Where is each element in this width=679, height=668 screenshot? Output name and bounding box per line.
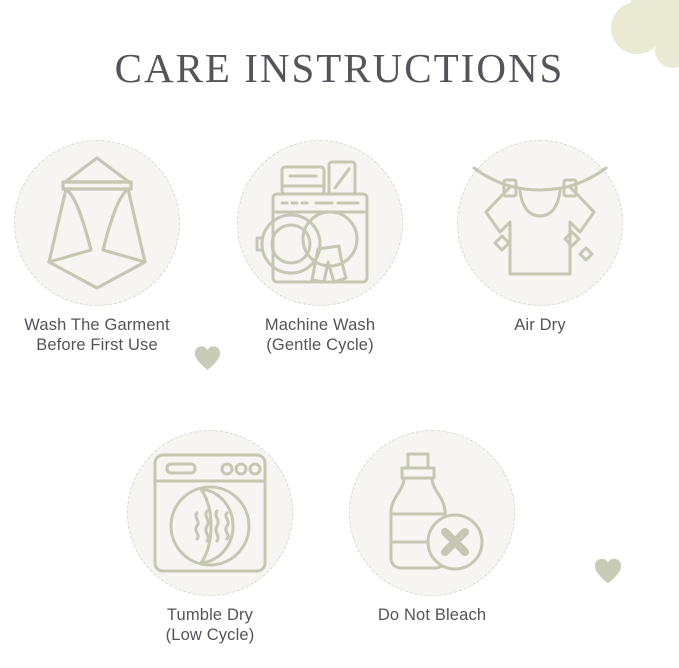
care-item-wash-before-first-use: Wash The Garment Before First Use: [0, 140, 197, 355]
care-item-do-not-bleach: Do Not Bleach: [332, 430, 532, 625]
folded-garment-icon: [37, 152, 157, 294]
washing-machine-icon: [254, 158, 386, 288]
care-instructions-card: CARE INSTRUCTIONS Wash The Garment Befor…: [0, 0, 679, 668]
care-item-label: Tumble Dry (Low Cycle): [110, 605, 310, 645]
icon-circle-3: [457, 140, 623, 306]
care-item-air-dry: Air Dry: [440, 140, 640, 335]
icon-circle-1: [14, 140, 180, 306]
care-item-tumble-dry: Tumble Dry (Low Cycle): [110, 430, 310, 645]
icon-circle-2: [237, 140, 403, 306]
care-item-label: Machine Wash (Gentle Cycle): [220, 315, 420, 355]
heart-decoration-right: [594, 557, 622, 585]
clothesline-tshirt-icon: [472, 160, 608, 286]
care-item-machine-wash: Machine Wash (Gentle Cycle): [220, 140, 420, 355]
no-bleach-bottle-icon: [375, 450, 489, 576]
care-item-label: Do Not Bleach: [332, 605, 532, 625]
heart-decoration-left: [194, 345, 221, 371]
page-title: CARE INSTRUCTIONS: [0, 44, 679, 92]
tumble-dryer-icon: [151, 451, 269, 575]
icon-circle-5: [349, 430, 515, 596]
care-item-label: Air Dry: [440, 315, 640, 335]
icon-circle-4: [127, 430, 293, 596]
care-item-label: Wash The Garment Before First Use: [0, 315, 197, 355]
